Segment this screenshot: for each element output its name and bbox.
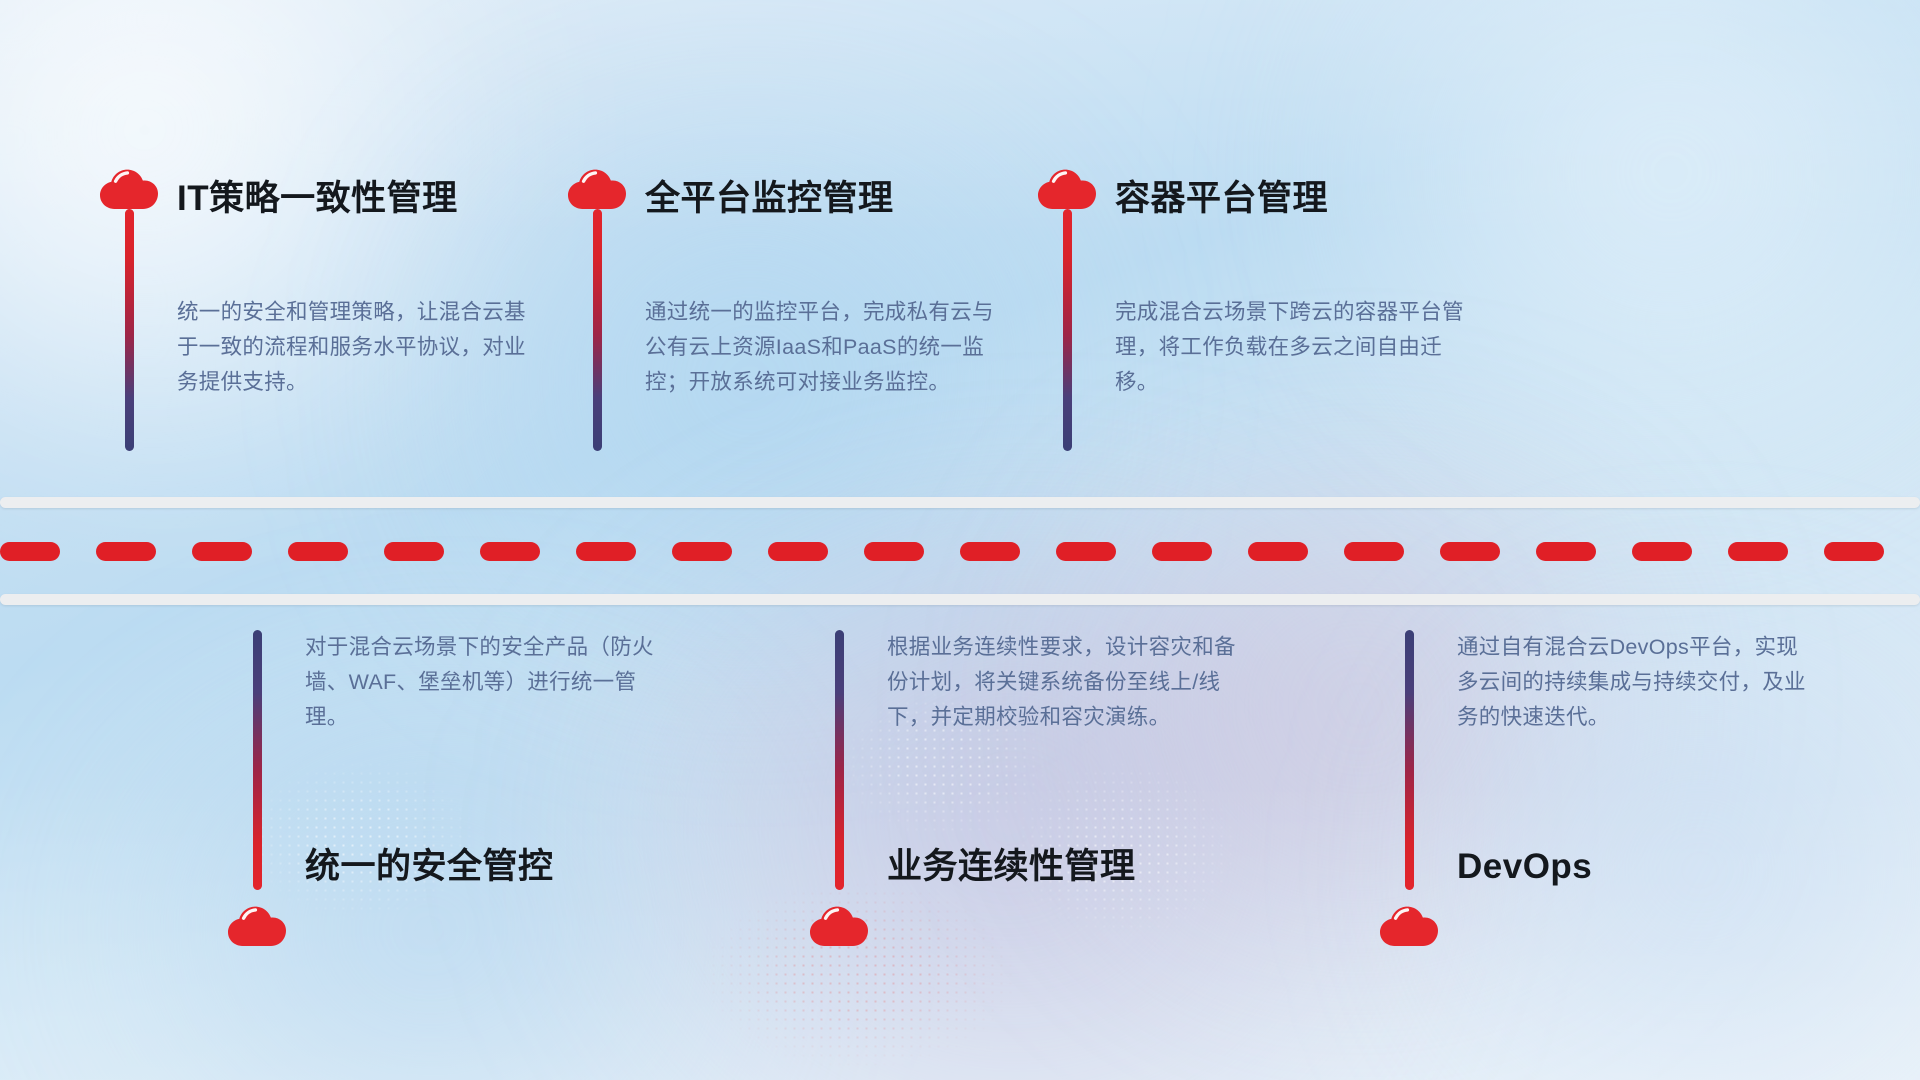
- road-line-upper: [0, 497, 1920, 508]
- dash-segment: [1248, 542, 1308, 561]
- card-body: 完成混合云场景下跨云的容器平台管理，将工作负载在多云之间自由迁移。: [1115, 295, 1470, 399]
- dash-segment: [480, 542, 540, 561]
- dash-segment: [1536, 542, 1596, 561]
- cloud-icon: [566, 165, 628, 211]
- card-body: 通过自有混合云DevOps平台，实现多云间的持续集成与持续交付，及业务的快速迭代…: [1457, 630, 1812, 734]
- cloud-icon: [808, 902, 870, 948]
- dash-segment: [576, 542, 636, 561]
- road-center-dashes: [0, 540, 1920, 562]
- dash-segment: [1056, 542, 1116, 561]
- dash-segment: [960, 542, 1020, 561]
- dash-segment: [1344, 542, 1404, 561]
- card-title: 业务连续性管理: [887, 849, 1136, 884]
- dash-segment: [1152, 542, 1212, 561]
- card-title: IT策略一致性管理: [177, 181, 458, 216]
- road-line-lower: [0, 594, 1920, 605]
- dash-segment: [192, 542, 252, 561]
- card-body: 对于混合云场景下的安全产品（防火墙、WAF、堡垒机等）进行统一管理。: [305, 630, 660, 734]
- connector-stem: [253, 630, 262, 890]
- card-title: 容器平台管理: [1115, 181, 1328, 216]
- dash-segment: [384, 542, 444, 561]
- dash-segment: [768, 542, 828, 561]
- infographic-canvas: IT策略一致性管理 统一的安全和管理策略，让混合云基于一致的流程和服务水平协议，…: [0, 0, 1920, 1080]
- dash-segment: [0, 542, 60, 561]
- dash-segment: [1632, 542, 1692, 561]
- card-title: 统一的安全管控: [305, 849, 554, 884]
- cloud-icon: [98, 165, 160, 211]
- dash-segment: [864, 542, 924, 561]
- dash-segment: [288, 542, 348, 561]
- card-body: 根据业务连续性要求，设计容灾和备份计划，将关键系统备份至线上/线下，并定期校验和…: [887, 630, 1242, 734]
- connector-stem: [1405, 630, 1414, 890]
- card-title: DevOps: [1457, 849, 1592, 884]
- dash-segment: [96, 542, 156, 561]
- card-title: 全平台监控管理: [645, 181, 894, 216]
- dash-segment: [672, 542, 732, 561]
- connector-stem: [593, 209, 602, 451]
- card-body: 通过统一的监控平台，完成私有云与公有云上资源IaaS和PaaS的统一监控；开放系…: [645, 295, 1000, 399]
- dash-segment: [1440, 542, 1500, 561]
- card-body: 统一的安全和管理策略，让混合云基于一致的流程和服务水平协议，对业务提供支持。: [177, 295, 532, 399]
- dash-segment: [1728, 542, 1788, 561]
- connector-stem: [835, 630, 844, 890]
- cloud-icon: [226, 902, 288, 948]
- connector-stem: [125, 209, 134, 451]
- connector-stem: [1063, 209, 1072, 451]
- dash-segment: [1824, 542, 1884, 561]
- cloud-icon: [1036, 165, 1098, 211]
- cloud-icon: [1378, 902, 1440, 948]
